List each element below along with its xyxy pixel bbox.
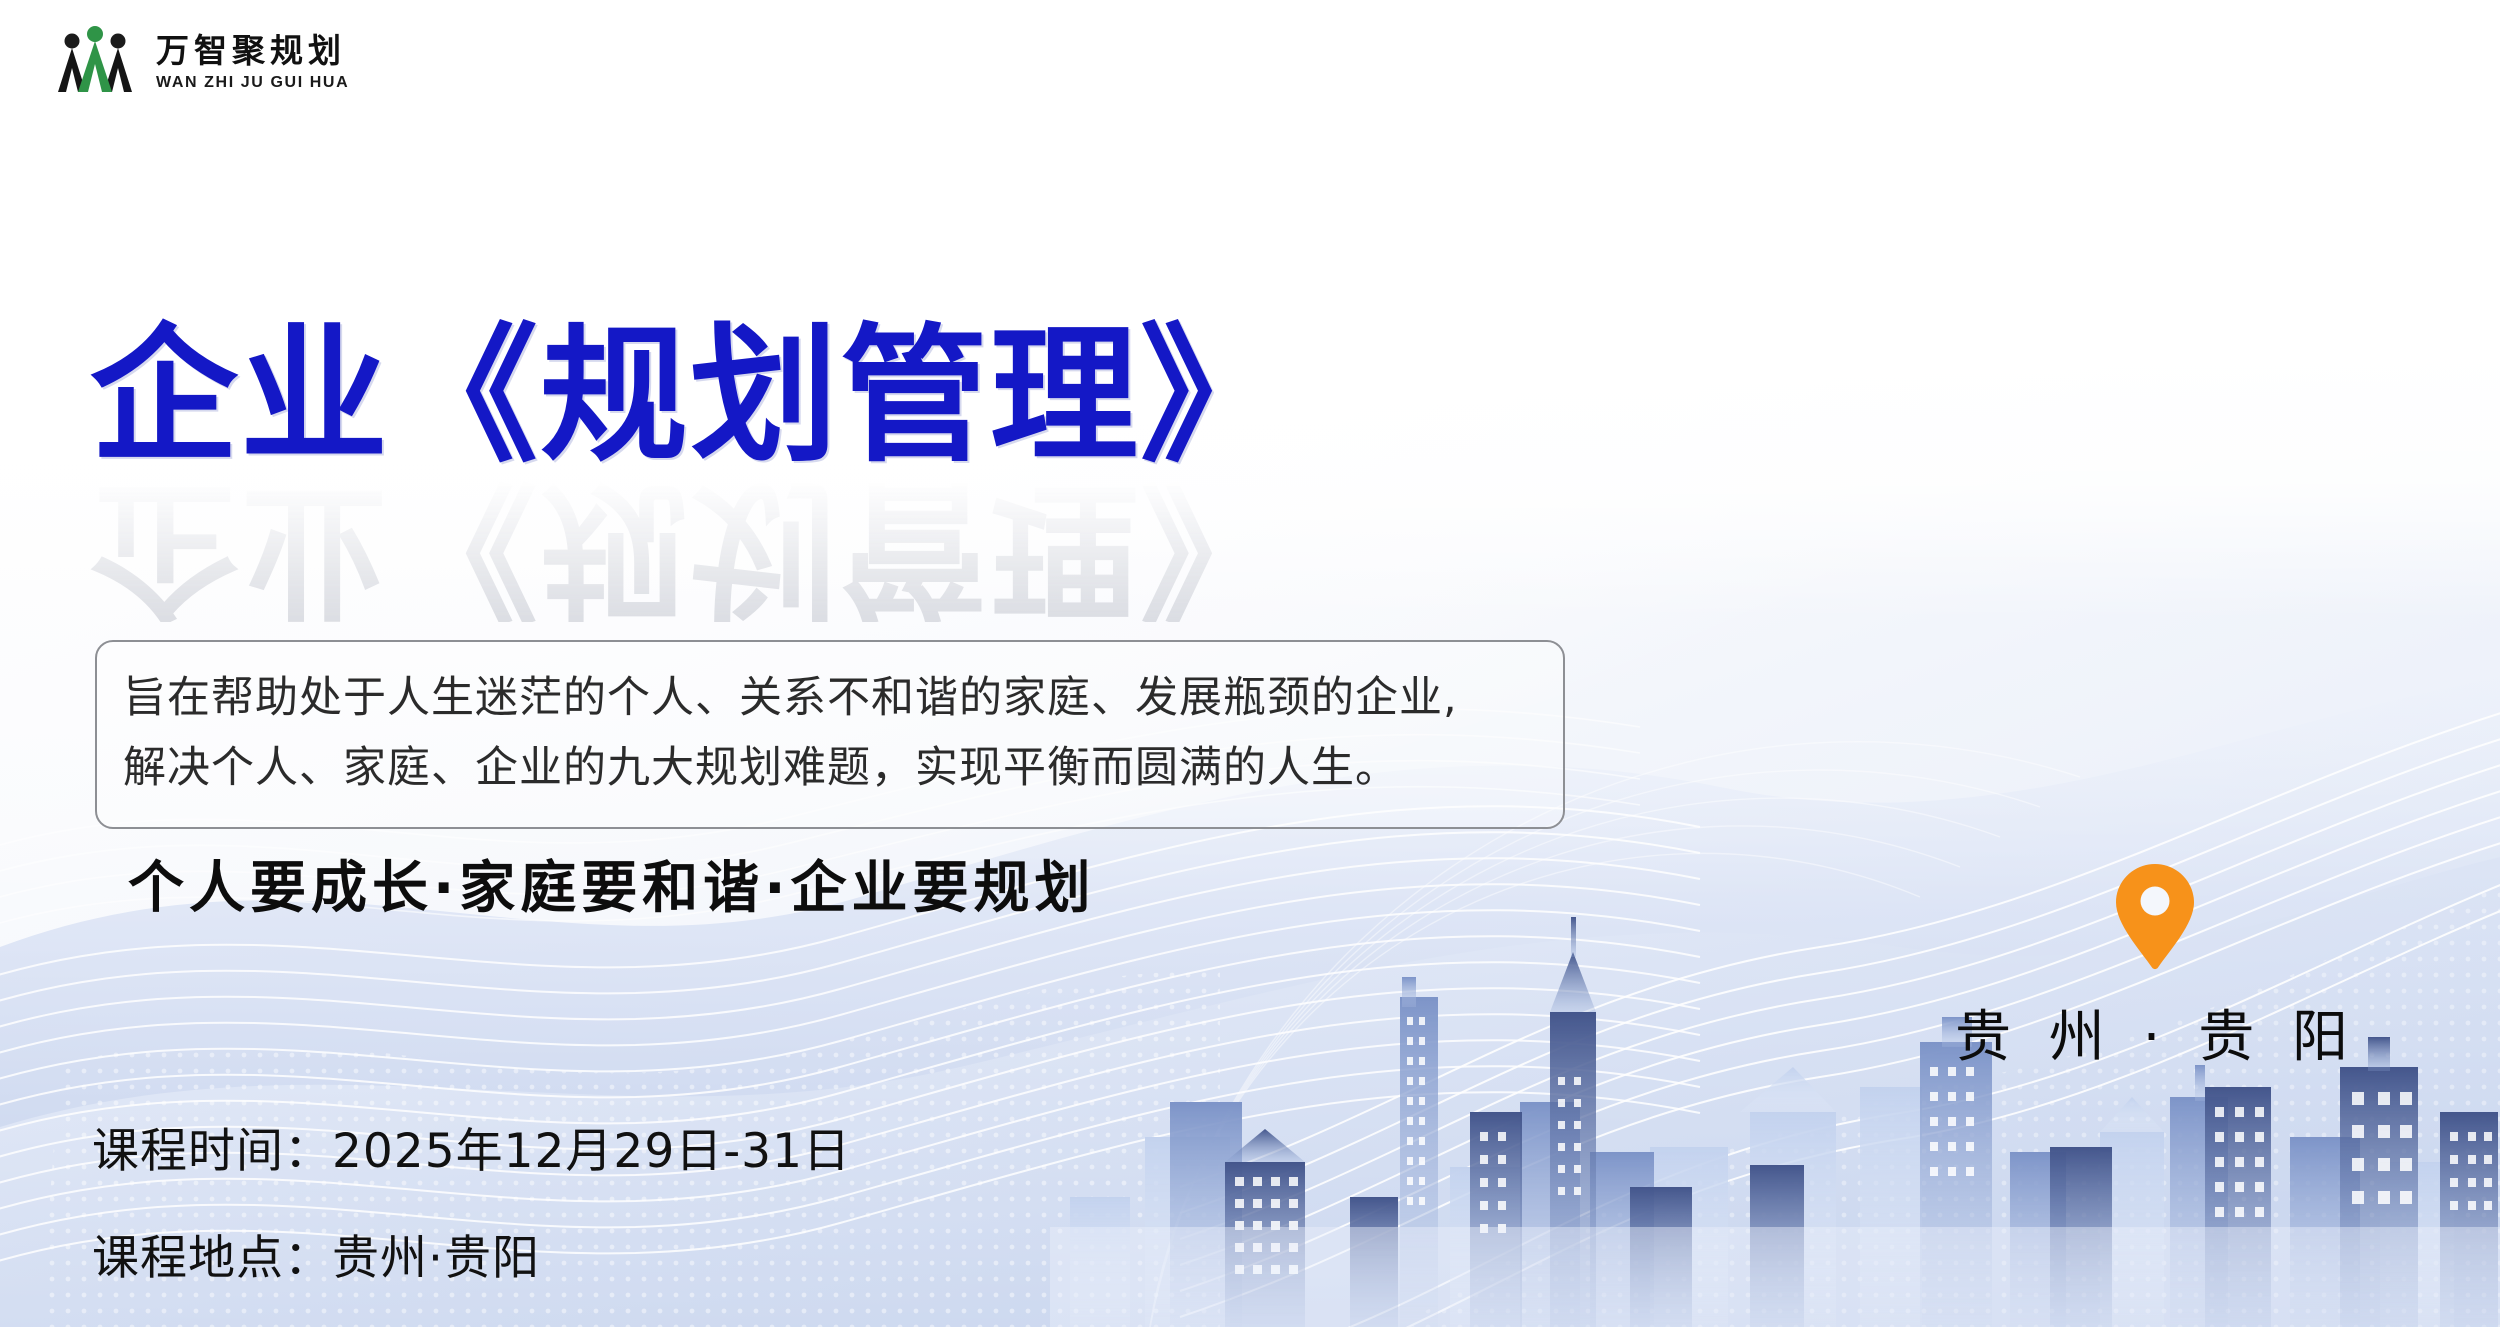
- page-title: 企业《规划管理》: [90, 322, 1290, 470]
- brand-name-cn: 万智聚规划: [156, 34, 349, 67]
- map-pin-icon: [2114, 862, 2196, 970]
- course-place: 课程地点：贵州·贵阳: [92, 1219, 851, 1288]
- page-title-reflection: 企业《规划管理》: [90, 474, 1290, 622]
- slogan-text: 个人要成长·家庭要和谐·企业要规划: [128, 843, 1096, 924]
- hero-title-block: 企业《规划管理》 企业《规划管理》: [90, 322, 1290, 622]
- course-meta: 课程时间：2025年12月29日-31日 课程地点：贵州·贵阳: [92, 1112, 851, 1288]
- location-badge: 贵 州 · 贵 阳: [1955, 862, 2355, 1073]
- description-line-1: 旨在帮助处于人生迷茫的个人、关系不和谐的家庭、发展瓶颈的企业,: [123, 664, 1537, 734]
- three-people-logo-icon: [52, 22, 138, 102]
- poster-canvas: 万智聚规划 WAN ZHI JU GUI HUA 企业《规划管理》 企业《规划管…: [0, 0, 2500, 1327]
- description-line-2: 解决个人、家庭、企业的九大规划难题，实现平衡而圆满的人生。: [123, 734, 1537, 804]
- brand-name-en: WAN ZHI JU GUI HUA: [156, 75, 349, 91]
- description-box: 旨在帮助处于人生迷茫的个人、关系不和谐的家庭、发展瓶颈的企业, 解决个人、家庭、…: [95, 640, 1565, 829]
- brand-logo: 万智聚规划 WAN ZHI JU GUI HUA: [52, 22, 349, 102]
- location-text: 贵 州 · 贵 阳: [1955, 992, 2355, 1073]
- course-time: 课程时间：2025年12月29日-31日: [92, 1112, 851, 1181]
